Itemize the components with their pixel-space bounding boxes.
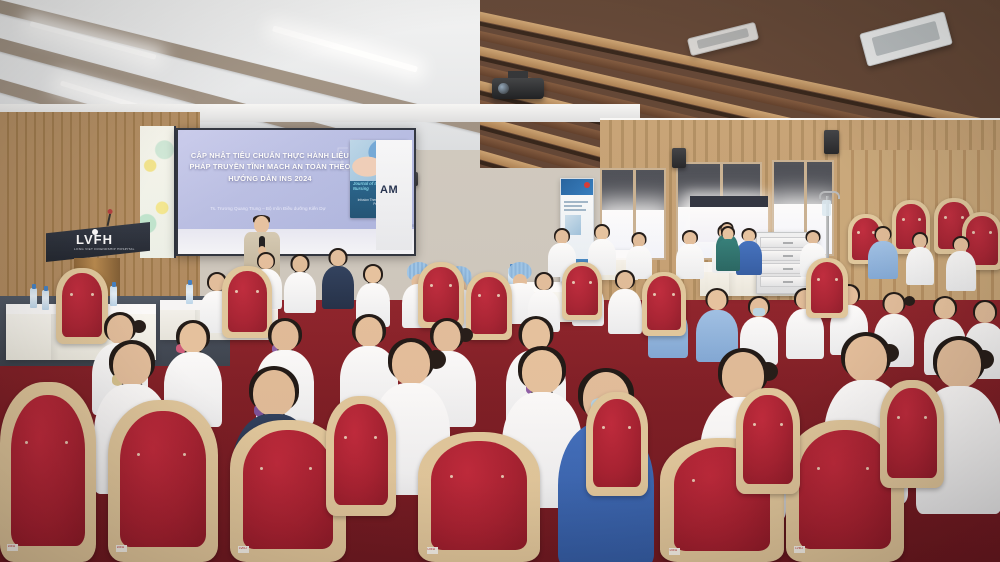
podium-logo-text: LVFH <box>76 233 113 246</box>
chair <box>326 396 396 516</box>
banner-logo-icon <box>584 182 590 188</box>
attendee <box>284 254 316 310</box>
projector <box>492 78 544 99</box>
attendee <box>906 232 934 284</box>
water-bottle <box>110 286 117 306</box>
chair <box>562 262 602 320</box>
chair-tag: LVFH <box>427 547 438 554</box>
chair-tag: LVFH <box>794 546 805 553</box>
face-mask <box>753 308 765 316</box>
water-bottle <box>186 284 193 304</box>
chair <box>586 392 648 496</box>
wall-speaker-right <box>824 130 839 154</box>
wall-speaker-left <box>672 148 686 168</box>
podium-logo-subtext: LONG VIET FRIENDSHIP HOSPITAL <box>74 247 135 251</box>
attendee <box>676 230 704 278</box>
chair: LVFH <box>0 382 96 562</box>
attendee <box>322 248 354 306</box>
chair-tag: LVFH <box>116 545 127 552</box>
chair: LVFH <box>108 400 218 562</box>
chair <box>806 258 848 318</box>
water-bottle <box>30 288 37 308</box>
chair <box>642 272 686 336</box>
slide-subtitle: Ts. Trương Quang Trung – Bộ môn Điều dưỡ… <box>188 206 348 211</box>
water-bottle <box>42 290 49 310</box>
attendee <box>868 226 898 278</box>
wall-banner-text: AM <box>380 184 398 196</box>
chair-tag: LVFH <box>7 544 18 551</box>
slide-title: CẬP NHẬT TIÊU CHUẨN THỰC HÀNH LIỆU PHÁP … <box>186 150 354 184</box>
wall-banner: AM <box>376 140 412 250</box>
chair-tag: LVFH <box>238 546 249 553</box>
attendee <box>608 270 642 332</box>
chair <box>736 388 800 494</box>
attendee-teal-scrubs <box>716 226 740 270</box>
chair-tag: LVFH <box>669 548 680 555</box>
attendee <box>946 236 976 290</box>
conference-hall-photo: CẬP NHẬT TIÊU CHUẨN THỰC HÀNH LIỆU PHÁP … <box>0 0 1000 562</box>
chair <box>880 380 944 488</box>
chair: LVFH <box>418 432 540 562</box>
iv-bag <box>822 200 831 216</box>
